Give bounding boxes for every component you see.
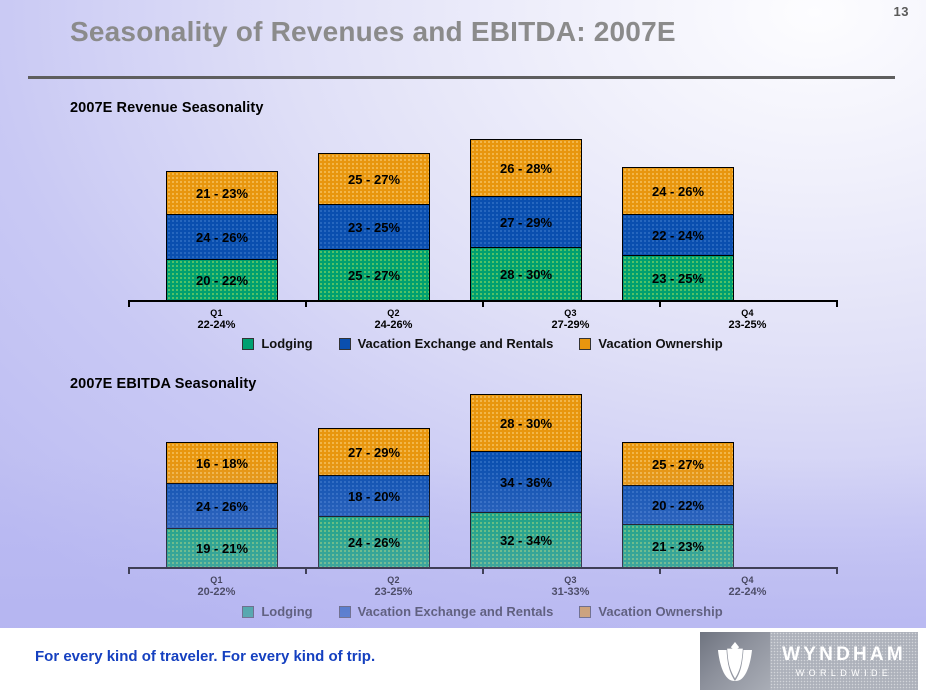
stacked-bar: 16 - 18%24 - 26%19 - 21% bbox=[166, 442, 278, 567]
bar-segment-label: 24 - 26% bbox=[196, 230, 248, 245]
legend-swatch-ownership-icon bbox=[579, 338, 591, 350]
legend-item-ownership: Vacation Ownership bbox=[579, 336, 722, 351]
bar-segment-ownership: 24 - 26% bbox=[622, 167, 734, 215]
legend-swatch-exchange-icon bbox=[339, 606, 351, 618]
category-name: Q1 bbox=[128, 308, 305, 319]
stacked-bar: 26 - 28%27 - 29%28 - 30% bbox=[470, 139, 582, 300]
legend-label-ownership: Vacation Ownership bbox=[598, 604, 722, 619]
legend-item-lodging: Lodging bbox=[242, 604, 312, 619]
bar-segment-label: 25 - 27% bbox=[348, 268, 400, 283]
bar-segment-lodging: 20 - 22% bbox=[166, 259, 278, 301]
legend-item-exchange: Vacation Exchange and Rentals bbox=[339, 604, 554, 619]
bar-segment-label: 28 - 30% bbox=[500, 416, 552, 431]
category-name: Q3 bbox=[482, 308, 659, 319]
category-total: 24-26% bbox=[305, 319, 482, 333]
ebitda-legend: Lodging Vacation Exchange and Rentals Va… bbox=[128, 604, 837, 619]
category-label: Q422-24% bbox=[659, 575, 836, 600]
slide-footer: For every kind of traveler. For every ki… bbox=[0, 628, 926, 694]
legend-swatch-lodging-icon bbox=[242, 606, 254, 618]
bar-segment-label: 23 - 25% bbox=[652, 271, 704, 286]
bar-segment-ownership: 21 - 23% bbox=[166, 171, 278, 215]
axis-tick bbox=[836, 567, 838, 574]
legend-label-lodging: Lodging bbox=[261, 604, 312, 619]
axis-tick bbox=[128, 567, 130, 574]
category-label: Q120-22% bbox=[128, 575, 305, 600]
bar-segment-ownership: 27 - 29% bbox=[318, 428, 430, 476]
bar-segment-lodging: 19 - 21% bbox=[166, 528, 278, 568]
bar-segment-label: 16 - 18% bbox=[196, 456, 248, 471]
bar-segment-exchange: 24 - 26% bbox=[166, 483, 278, 529]
footer-tagline: For every kind of traveler. For every ki… bbox=[35, 648, 375, 665]
bar-segment-label: 24 - 26% bbox=[348, 535, 400, 550]
category-label: Q423-25% bbox=[659, 308, 836, 333]
legend-swatch-exchange-icon bbox=[339, 338, 351, 350]
bar-segment-lodging: 32 - 34% bbox=[470, 512, 582, 568]
logo-word-secondary: WORLDWIDE bbox=[796, 669, 893, 678]
category-name: Q4 bbox=[659, 308, 836, 319]
bar-segment-label: 19 - 21% bbox=[196, 541, 248, 556]
wyndham-crown-mark-icon bbox=[700, 632, 770, 690]
bar-segment-label: 24 - 26% bbox=[196, 499, 248, 514]
bar-segment-exchange: 18 - 20% bbox=[318, 475, 430, 517]
legend-swatch-ownership-icon bbox=[579, 606, 591, 618]
category-label: Q327-29% bbox=[482, 308, 659, 333]
title-divider bbox=[28, 76, 895, 79]
ebitda-plot-area: 16 - 18%24 - 26%19 - 21%27 - 29%18 - 20%… bbox=[128, 392, 836, 567]
bar-segment-exchange: 34 - 36% bbox=[470, 451, 582, 513]
category-label: Q331-33% bbox=[482, 575, 659, 600]
bar-segment-label: 28 - 30% bbox=[500, 267, 552, 282]
category-name: Q4 bbox=[659, 575, 836, 586]
bar-segment-label: 23 - 25% bbox=[348, 220, 400, 235]
legend-item-ownership: Vacation Ownership bbox=[579, 604, 722, 619]
category-total: 22-24% bbox=[659, 586, 836, 600]
bar-segment-label: 21 - 23% bbox=[652, 539, 704, 554]
bar-segment-lodging: 23 - 25% bbox=[622, 255, 734, 301]
category-total: 23-25% bbox=[305, 586, 482, 600]
bar-segment-label: 27 - 29% bbox=[500, 215, 552, 230]
wyndham-wordmark: WYNDHAM WORLDWIDE bbox=[770, 632, 918, 690]
stacked-bar: 21 - 23%24 - 26%20 - 22% bbox=[166, 171, 278, 300]
bar-segment-lodging: 25 - 27% bbox=[318, 249, 430, 301]
category-label: Q224-26% bbox=[305, 308, 482, 333]
stacked-bar: 27 - 29%18 - 20%24 - 26% bbox=[318, 428, 430, 567]
stacked-bar: 24 - 26%22 - 24%23 - 25% bbox=[622, 167, 734, 300]
bar-segment-label: 20 - 22% bbox=[652, 498, 704, 513]
axis-tick bbox=[836, 300, 838, 307]
revenue-x-axis bbox=[128, 300, 837, 302]
bar-segment-label: 24 - 26% bbox=[652, 184, 704, 199]
category-total: 27-29% bbox=[482, 319, 659, 333]
revenue-seasonality-chart: 21 - 23%24 - 26%20 - 22%25 - 27%23 - 25%… bbox=[0, 118, 926, 363]
bar-segment-ownership: 16 - 18% bbox=[166, 442, 278, 484]
category-label: Q122-24% bbox=[128, 308, 305, 333]
bar-segment-label: 34 - 36% bbox=[500, 475, 552, 490]
page-number: 13 bbox=[894, 4, 909, 19]
bar-segment-label: 25 - 27% bbox=[348, 172, 400, 187]
axis-tick bbox=[482, 567, 484, 574]
legend-label-exchange: Vacation Exchange and Rentals bbox=[358, 604, 554, 619]
ebitda-seasonality-chart: 16 - 18%24 - 26%19 - 21%27 - 29%18 - 20%… bbox=[0, 392, 926, 628]
bar-segment-exchange: 23 - 25% bbox=[318, 204, 430, 250]
stacked-bar: 25 - 27%20 - 22%21 - 23% bbox=[622, 442, 734, 567]
bar-segment-label: 22 - 24% bbox=[652, 228, 704, 243]
revenue-legend: Lodging Vacation Exchange and Rentals Va… bbox=[128, 336, 837, 351]
legend-swatch-lodging-icon bbox=[242, 338, 254, 350]
wyndham-worldwide-logo: WYNDHAM WORLDWIDE bbox=[700, 632, 918, 690]
bar-segment-exchange: 24 - 26% bbox=[166, 214, 278, 260]
bar-segment-label: 25 - 27% bbox=[652, 457, 704, 472]
axis-tick bbox=[305, 300, 307, 307]
legend-label-ownership: Vacation Ownership bbox=[598, 336, 722, 351]
legend-item-lodging: Lodging bbox=[242, 336, 312, 351]
bar-segment-ownership: 25 - 27% bbox=[622, 442, 734, 486]
bar-segment-lodging: 24 - 26% bbox=[318, 516, 430, 568]
bar-segment-label: 27 - 29% bbox=[348, 445, 400, 460]
page-title: Seasonality of Revenues and EBITDA: 2007… bbox=[70, 16, 676, 48]
bar-segment-ownership: 25 - 27% bbox=[318, 153, 430, 205]
category-name: Q2 bbox=[305, 575, 482, 586]
bar-segment-label: 21 - 23% bbox=[196, 186, 248, 201]
bar-segment-exchange: 22 - 24% bbox=[622, 214, 734, 256]
bar-segment-ownership: 26 - 28% bbox=[470, 139, 582, 197]
bar-segment-ownership: 28 - 30% bbox=[470, 394, 582, 452]
revenue-section-title: 2007E Revenue Seasonality bbox=[70, 100, 264, 116]
legend-item-exchange: Vacation Exchange and Rentals bbox=[339, 336, 554, 351]
bar-segment-label: 20 - 22% bbox=[196, 273, 248, 288]
revenue-plot-area: 21 - 23%24 - 26%20 - 22%25 - 27%23 - 25%… bbox=[128, 118, 836, 300]
category-name: Q1 bbox=[128, 575, 305, 586]
axis-tick bbox=[128, 300, 130, 307]
bar-segment-label: 26 - 28% bbox=[500, 161, 552, 176]
logo-word-primary: WYNDHAM bbox=[782, 645, 906, 664]
category-label: Q223-25% bbox=[305, 575, 482, 600]
axis-tick bbox=[482, 300, 484, 307]
category-name: Q2 bbox=[305, 308, 482, 319]
category-name: Q3 bbox=[482, 575, 659, 586]
bar-segment-label: 32 - 34% bbox=[500, 533, 552, 548]
category-total: 20-22% bbox=[128, 586, 305, 600]
legend-label-lodging: Lodging bbox=[261, 336, 312, 351]
stacked-bar: 28 - 30%34 - 36%32 - 34% bbox=[470, 394, 582, 567]
bar-segment-exchange: 20 - 22% bbox=[622, 485, 734, 525]
axis-tick bbox=[659, 567, 661, 574]
legend-label-exchange: Vacation Exchange and Rentals bbox=[358, 336, 554, 351]
axis-tick bbox=[305, 567, 307, 574]
slide-canvas: 13 Seasonality of Revenues and EBITDA: 2… bbox=[0, 0, 926, 628]
category-total: 23-25% bbox=[659, 319, 836, 333]
category-total: 22-24% bbox=[128, 319, 305, 333]
ebitda-section-title: 2007E EBITDA Seasonality bbox=[70, 376, 256, 392]
bar-segment-label: 18 - 20% bbox=[348, 489, 400, 504]
category-total: 31-33% bbox=[482, 586, 659, 600]
stacked-bar: 25 - 27%23 - 25%25 - 27% bbox=[318, 153, 430, 300]
ebitda-x-axis bbox=[128, 567, 837, 569]
axis-tick bbox=[659, 300, 661, 307]
bar-segment-lodging: 21 - 23% bbox=[622, 524, 734, 568]
bar-segment-lodging: 28 - 30% bbox=[470, 247, 582, 301]
bar-segment-exchange: 27 - 29% bbox=[470, 196, 582, 248]
